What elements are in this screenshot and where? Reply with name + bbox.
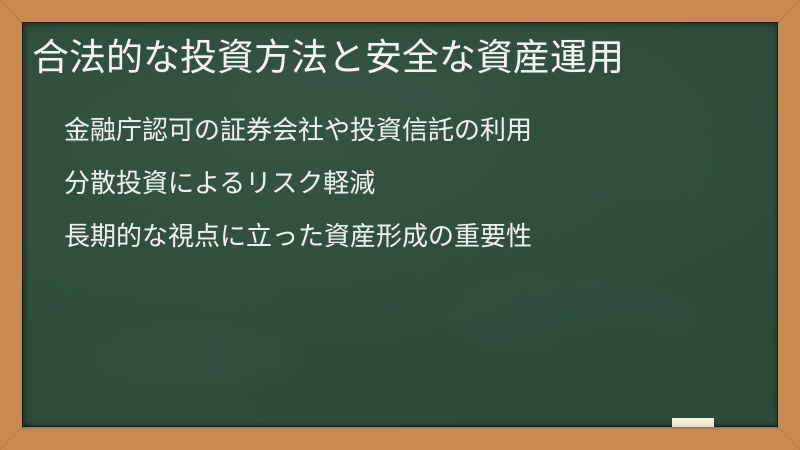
- slide-title: 合法的な投資方法と安全な資産運用: [32, 36, 624, 80]
- bullet-item: 分散投資によるリスク軽減: [64, 157, 532, 210]
- bullet-list: 金融庁認可の証券会社や投資信託の利用 分散投資によるリスク軽減 長期的な視点に立…: [64, 104, 532, 263]
- bullet-item: 金融庁認可の証券会社や投資信託の利用: [64, 104, 532, 157]
- chalkboard-slide: 合法的な投資方法と安全な資産運用 金融庁認可の証券会社や投資信託の利用 分散投資…: [0, 0, 800, 450]
- chalkboard-surface: 合法的な投資方法と安全な資産運用 金融庁認可の証券会社や投資信託の利用 分散投資…: [22, 22, 778, 427]
- slide-content: 合法的な投資方法と安全な資産運用 金融庁認可の証券会社や投資信託の利用 分散投資…: [22, 22, 778, 427]
- chalk-stick-icon: [672, 418, 714, 427]
- bullet-item: 長期的な視点に立った資産形成の重要性: [64, 210, 532, 263]
